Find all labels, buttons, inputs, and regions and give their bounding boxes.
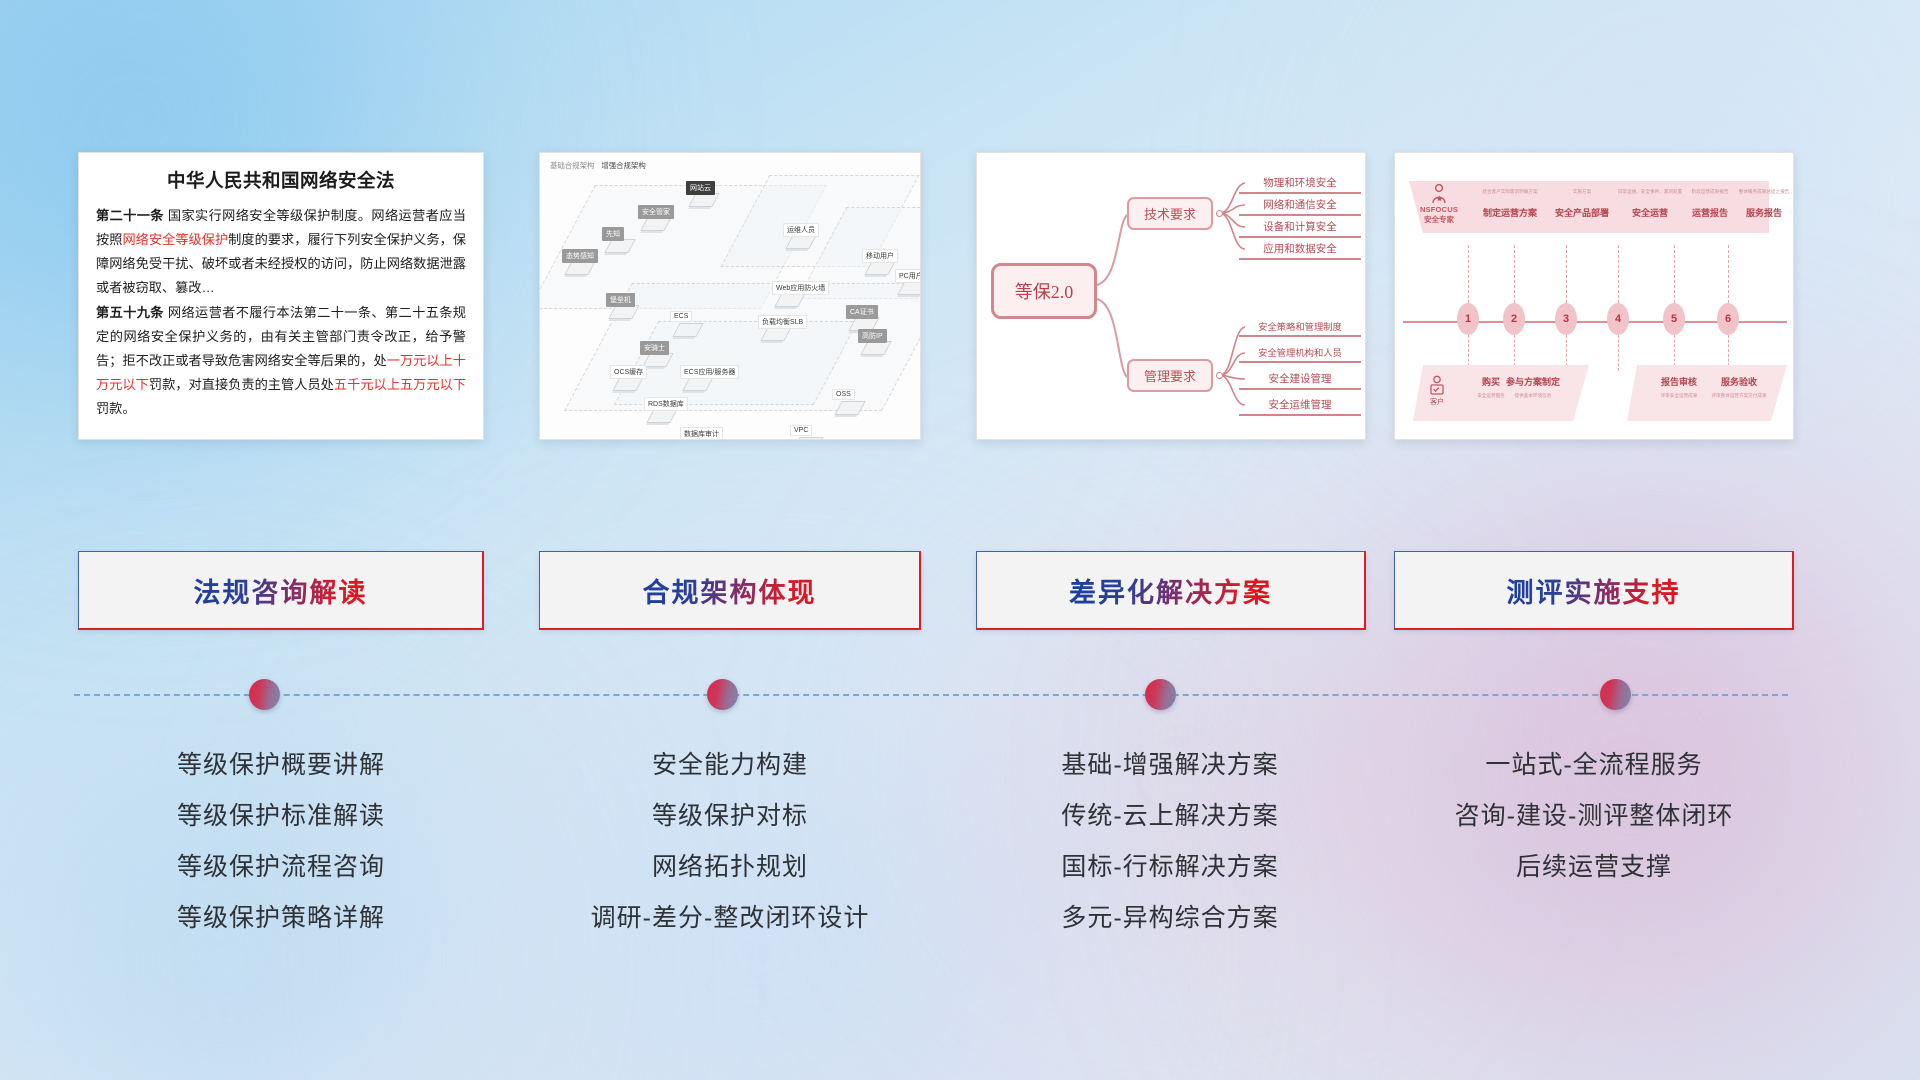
nsfocus-step[interactable]: 日常运维、安全事件、漏洞处置安全运营	[1617, 189, 1683, 219]
customer-text: 客户	[1419, 397, 1455, 407]
architecture-node-label: 态势感知	[562, 249, 598, 263]
nsfocus-step-title: 制定运营方案	[1477, 206, 1543, 219]
mindmap-leaf[interactable]: 应用和数据安全	[1239, 241, 1361, 260]
nsfocus-connector	[1618, 245, 1619, 303]
nsfocus-step-number[interactable]: 5	[1663, 303, 1685, 335]
timeline-dot-1[interactable]	[249, 679, 280, 710]
timeline-dashed-line	[74, 694, 1788, 696]
mindmap-card[interactable]: 等保2.0 技术要求 管理要求 物理和环境安全网络和通信安全设备和计算安全应用和…	[976, 152, 1366, 440]
section-items-4: 一站式-全流程服务咨询-建设-测评整体闭环后续运营支撑	[1386, 740, 1802, 893]
nsfocus-step-number[interactable]: 4	[1607, 303, 1629, 335]
nsfocus-step[interactable]: 整体服务成果总结之报告服务报告	[1731, 189, 1794, 219]
nsfocus-connector	[1566, 245, 1567, 303]
architecture-node-shape	[646, 409, 677, 423]
law-body-text: 罚款。	[96, 401, 136, 416]
nsfocus-connector	[1674, 245, 1675, 303]
mindmap-leaf[interactable]: 安全建设管理	[1239, 371, 1361, 390]
nsfocus-step-subtitle: 整体服务成果总结之报告	[1731, 189, 1794, 195]
customer-person-icon	[1427, 375, 1447, 397]
architecture-node-label: 高防IP	[858, 329, 887, 343]
section-items-1: 等级保护概要讲解等级保护标准解读等级保护流程咨询等级保护策略详解	[78, 740, 484, 944]
architecture-card[interactable]: 基础合规架构 增强合规架构 网站云安全管家先知态势感知运维人员移动用户PC用户堡…	[539, 152, 921, 440]
architecture-node-label: 负载均衡SLB	[758, 315, 807, 329]
law-card[interactable]: 中华人民共和国网络安全法 第二十一条 国家实行网络安全等级保护制度。网络运营者应…	[78, 152, 484, 440]
architecture-node-label: OCS缓存	[610, 365, 647, 379]
nsfocus-logo-subtitle: 安全专家	[1415, 214, 1463, 225]
section-item: 基础-增强解决方案	[960, 740, 1380, 791]
nsfocus-card[interactable]: NSFOCUS 安全专家 结合客户实际需求明确方案制定运营方案实施方案安全产品部…	[1394, 152, 1794, 440]
nsfocus-step-title: 服务报告	[1731, 206, 1794, 219]
nsfocus-customer-step-subtitle: 提供基本环境信息	[1495, 393, 1571, 399]
mindmap-leaf[interactable]: 安全运维管理	[1239, 397, 1361, 416]
nsfocus-customer-step-subtitle: 评审整体运营方案交付成果	[1701, 393, 1777, 399]
section-header-2-label: 合规架构体现	[643, 571, 817, 610]
mindmap-leaf[interactable]: 安全管理机构和人员	[1239, 345, 1361, 363]
architecture-node-label: 安骑士	[640, 341, 669, 355]
nsfocus-customer-step[interactable]: 服务验收评审整体运营方案交付成果	[1701, 375, 1777, 399]
section-header-4[interactable]: 测评实施支持	[1394, 551, 1794, 630]
mindmap-root-node[interactable]: 等保2.0	[991, 263, 1097, 319]
architecture-node-label: 堡垒机	[606, 293, 635, 307]
architecture-node-label: PC用户	[895, 269, 921, 283]
architecture-tab-basic[interactable]: 基础合规架构	[550, 160, 594, 171]
section-header-1-label: 法规咨询解读	[194, 571, 368, 610]
section-item: 等级保护概要讲解	[78, 740, 484, 791]
nsfocus-connector	[1514, 245, 1515, 303]
nsfocus-connector	[1728, 245, 1729, 303]
section-item: 咨询-建设-测评整体闭环	[1386, 791, 1802, 842]
nsfocus-step-title: 安全运营	[1617, 206, 1683, 219]
nsfocus-step-subtitle: 实施方案	[1549, 189, 1615, 195]
section-item: 一站式-全流程服务	[1386, 740, 1802, 791]
section-item: 网络拓扑规划	[515, 842, 945, 893]
architecture-node-label: 安全管家	[638, 205, 674, 219]
law-article-number: 第二十一条	[96, 208, 164, 223]
architecture-node-label: VPC	[790, 425, 812, 436]
section-item: 等级保护流程咨询	[78, 842, 484, 893]
section-item: 国标-行标解决方案	[960, 842, 1380, 893]
nsfocus-logo: NSFOCUS 安全专家	[1415, 183, 1463, 225]
nsfocus-step-subtitle: 结合客户实际需求明确方案	[1477, 189, 1543, 195]
nsfocus-customer-step[interactable]: 参与方案制定提供基本环境信息	[1495, 375, 1571, 399]
architecture-tab-enhanced[interactable]: 增强合规架构	[601, 160, 645, 171]
mindmap-leaf[interactable]: 网络和通信安全	[1239, 197, 1361, 216]
architecture-tabs: 基础合规架构 增强合规架构	[550, 160, 646, 171]
architecture-node-shape	[792, 437, 823, 440]
mindmap-leaf[interactable]: 设备和计算安全	[1239, 219, 1361, 238]
architecture-node-label: 数据库审计	[680, 427, 723, 440]
section-item: 多元-异构综合方案	[960, 893, 1380, 944]
architecture-node-label: 运维人员	[783, 223, 819, 237]
nsfocus-step-title: 安全产品部署	[1549, 206, 1615, 219]
architecture-node-label: ECS应用/服务器	[680, 365, 739, 379]
section-item: 等级保护策略详解	[78, 893, 484, 944]
architecture-node-label: CA证书	[846, 305, 878, 319]
section-item: 传统-云上解决方案	[960, 791, 1380, 842]
section-items-3: 基础-增强解决方案传统-云上解决方案国标-行标解决方案多元-异构综合方案	[960, 740, 1380, 944]
nsfocus-step-number[interactable]: 1	[1457, 303, 1479, 335]
mindmap-collapse-icon[interactable]	[1216, 372, 1223, 379]
architecture-node-shape	[682, 439, 713, 440]
timeline-dot-4[interactable]	[1600, 679, 1631, 710]
section-item: 等级保护标准解读	[78, 791, 484, 842]
nsfocus-step-number[interactable]: 3	[1555, 303, 1577, 335]
architecture-node-label: OSS	[832, 389, 855, 400]
law-body-text: 罚款，对直接负责的主管人员处	[149, 377, 334, 392]
mindmap-leaf[interactable]: 安全策略和管理制度	[1239, 319, 1361, 337]
mindmap-branch-management[interactable]: 管理要求	[1127, 359, 1213, 392]
section-header-2[interactable]: 合规架构体现	[539, 551, 921, 630]
architecture-node-label: RDS数据库	[644, 397, 688, 411]
expert-person-icon	[1424, 183, 1454, 205]
section-header-3-label: 差异化解决方案	[1069, 571, 1272, 610]
law-article-number: 第五十九条	[96, 305, 164, 320]
law-paragraph: 第二十一条 国家实行网络安全等级保护制度。网络运营者应当按照网络安全等级保护制度…	[96, 204, 466, 300]
timeline-dot-2[interactable]	[707, 679, 738, 710]
mindmap-leaf[interactable]: 物理和环境安全	[1239, 175, 1361, 194]
nsfocus-customer-step-title: 服务验收	[1701, 375, 1777, 388]
section-item: 安全能力构建	[515, 740, 945, 791]
law-highlight-text: 网络安全等级保护	[122, 232, 228, 247]
section-header-1[interactable]: 法规咨询解读	[78, 551, 484, 630]
nsfocus-step-subtitle: 日常运维、安全事件、漏洞处置	[1617, 189, 1683, 195]
law-highlight-text: 五千元以上五万元以下	[334, 377, 466, 392]
section-item: 后续运营支撑	[1386, 842, 1802, 893]
law-paragraph-text: 网络运营者不履行本法第二十一条、第二十五条规定的网络安全保护义务的，由有关主管部…	[96, 305, 466, 416]
nsfocus-step-number[interactable]: 2	[1503, 303, 1525, 335]
nsfocus-connector	[1468, 245, 1469, 303]
law-paragraph: 第五十九条 网络运营者不履行本法第二十一条、第二十五条规定的网络安全保护义务的，…	[96, 301, 466, 421]
section-items-2: 安全能力构建等级保护对标网络拓扑规划调研-差分-整改闭环设计	[515, 740, 945, 944]
nsfocus-step-number[interactable]: 6	[1717, 303, 1739, 335]
law-card-title: 中华人民共和国网络安全法	[96, 167, 466, 193]
nsfocus-customer-step-title: 参与方案制定	[1495, 375, 1571, 388]
architecture-node-label: 移动用户	[862, 249, 898, 263]
section-item: 等级保护对标	[515, 791, 945, 842]
nsfocus-step[interactable]: 实施方案安全产品部署	[1549, 189, 1615, 219]
architecture-node-label: 网站云	[686, 181, 715, 195]
architecture-node-label: 先知	[602, 227, 624, 241]
section-item: 调研-差分-整改闭环设计	[515, 893, 945, 944]
architecture-node-label: Web应用防火墙	[772, 281, 829, 295]
mindmap-branch-technical[interactable]: 技术要求	[1127, 197, 1213, 230]
nsfocus-customer-label: 客户	[1419, 375, 1455, 407]
section-header-3[interactable]: 差异化解决方案	[976, 551, 1366, 630]
nsfocus-connector	[1618, 335, 1619, 371]
nsfocus-step[interactable]: 结合客户实际需求明确方案制定运营方案	[1477, 189, 1543, 219]
section-header-4-label: 测评实施支持	[1507, 571, 1681, 610]
mindmap-collapse-icon[interactable]	[1216, 210, 1223, 217]
timeline-dot-3[interactable]	[1145, 679, 1176, 710]
nsfocus-logo-name: NSFOCUS	[1415, 205, 1463, 214]
architecture-node-label: ECS	[670, 311, 692, 322]
